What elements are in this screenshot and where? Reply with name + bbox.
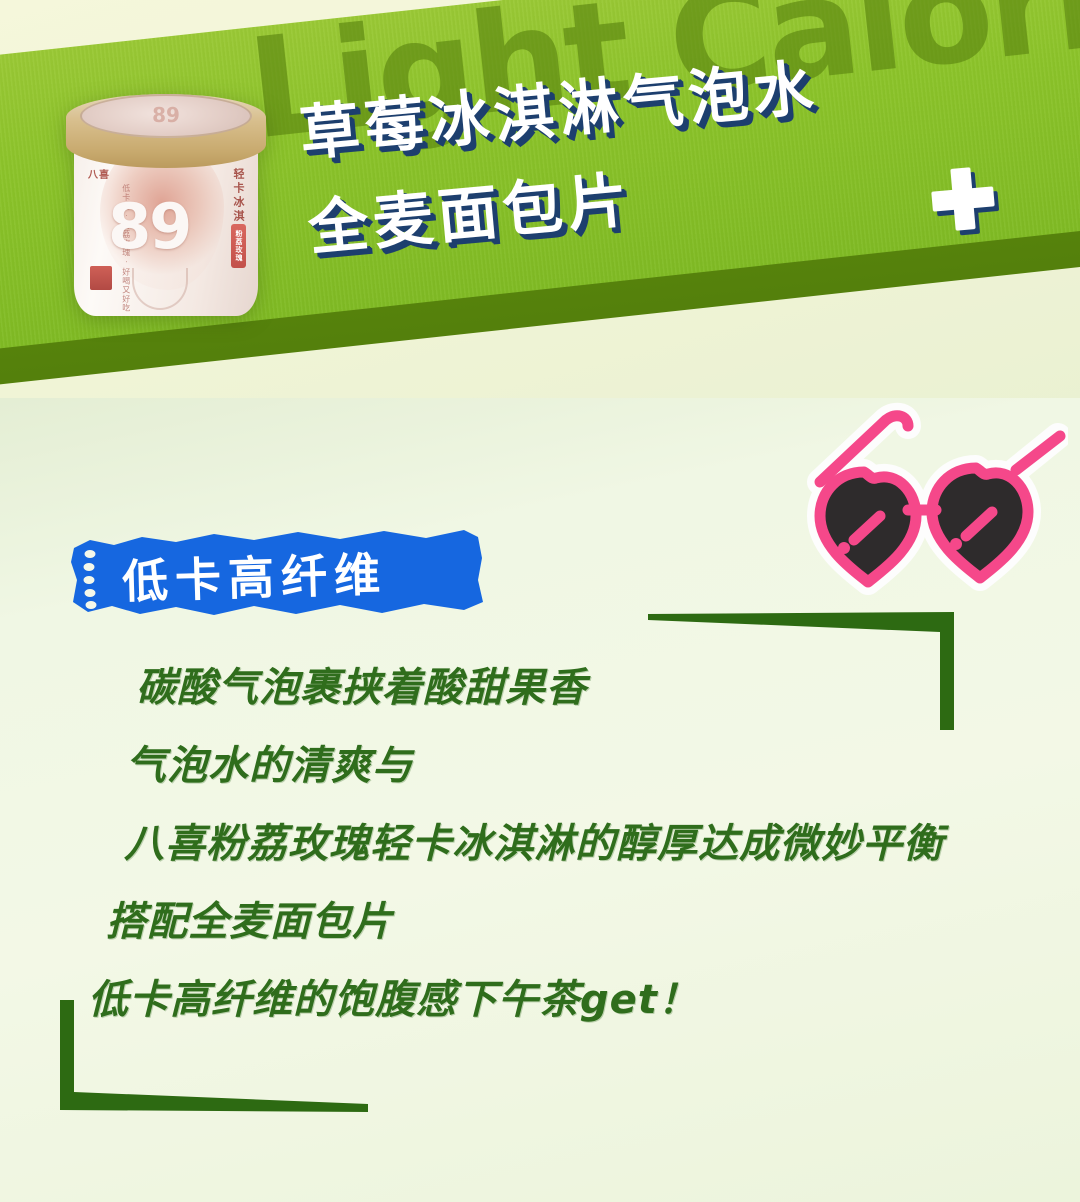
tag-label: 低卡高纤维 [121, 538, 388, 611]
plus-icon [929, 165, 996, 232]
cup-brand-mark: 八喜 [88, 166, 110, 181]
cup-glass-illustration [132, 268, 188, 310]
cup-stamp-icon [90, 266, 112, 290]
copy-line: 搭配全麦面包片 [106, 902, 1038, 942]
copy-line: 低卡高纤维的饱腹感下午茶get！ [88, 980, 1038, 1020]
cup-flavor-badge: 粉荔玫瑰 [231, 224, 246, 268]
cup-lid-top [80, 94, 252, 138]
product-ice-cream-cup: 八喜 低卡的 · 粉荔玫瑰 · 好喝又好吃 89 轻卡冰淇淋 粉荔玫瑰 [62, 88, 270, 320]
heart-sunglasses-icon [768, 392, 1068, 602]
cup-calorie-number: 89 [108, 190, 190, 263]
copy-line: 八喜粉荔玫瑰轻卡冰淇淋的醇厚达成微妙平衡 [124, 824, 1038, 864]
low-calorie-tag: 低卡高纤维 [68, 528, 488, 616]
copy-line: 气泡水的清爽与 [126, 746, 1038, 786]
copy-line: 碳酸气泡裹挟着酸甜果香 [136, 668, 1038, 708]
poster-root: Light Calorie 草莓冰淇淋气泡水 全麦面包片 八喜 低卡的 · 粉荔… [0, 0, 1080, 1202]
body-copy: 碳酸气泡裹挟着酸甜果香 气泡水的清爽与 八喜粉荔玫瑰轻卡冰淇淋的醇厚达成微妙平衡… [88, 668, 1038, 1058]
